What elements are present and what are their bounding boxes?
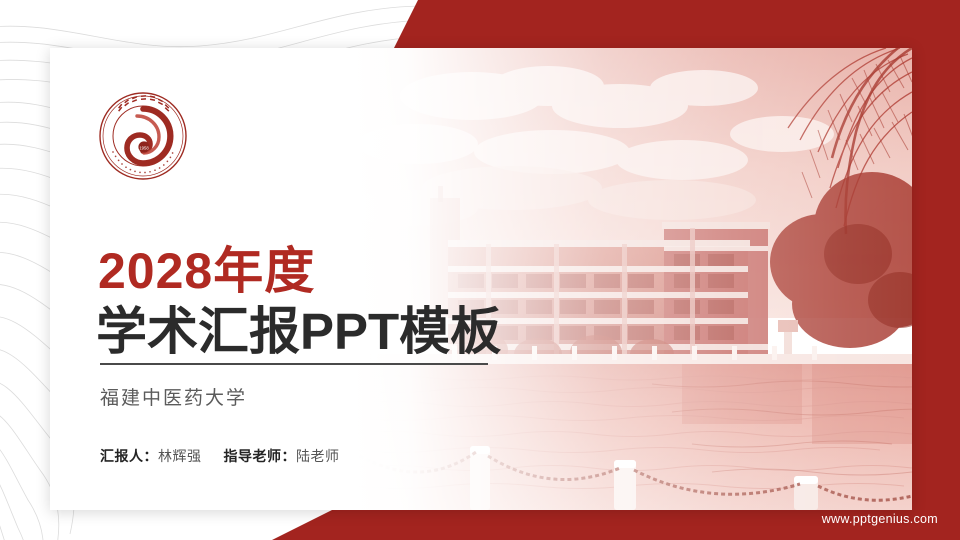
university-logo-icon: 1958 [97, 90, 189, 182]
svg-text:1958: 1958 [139, 145, 149, 150]
footer-website-url[interactable]: www.pptgenius.com [822, 512, 938, 526]
presenter-name: 林辉强 [158, 448, 202, 464]
advisor-label: 指导老师： [224, 448, 297, 464]
advisor-name: 陆老师 [296, 448, 340, 464]
byline: 汇报人：林辉强指导老师：陆老师 [100, 446, 340, 466]
title-divider [100, 363, 488, 365]
university-name: 福建中医药大学 [100, 383, 247, 410]
presentation-slide: 1958 [0, 0, 960, 540]
title-block: 1958 [50, 48, 520, 510]
page-title: 学术汇报PPT模板 [96, 306, 501, 357]
slide-card: 1958 [50, 48, 912, 510]
presenter-label: 汇报人： [100, 448, 158, 464]
slide-year-title: 2028年度 [98, 246, 315, 296]
